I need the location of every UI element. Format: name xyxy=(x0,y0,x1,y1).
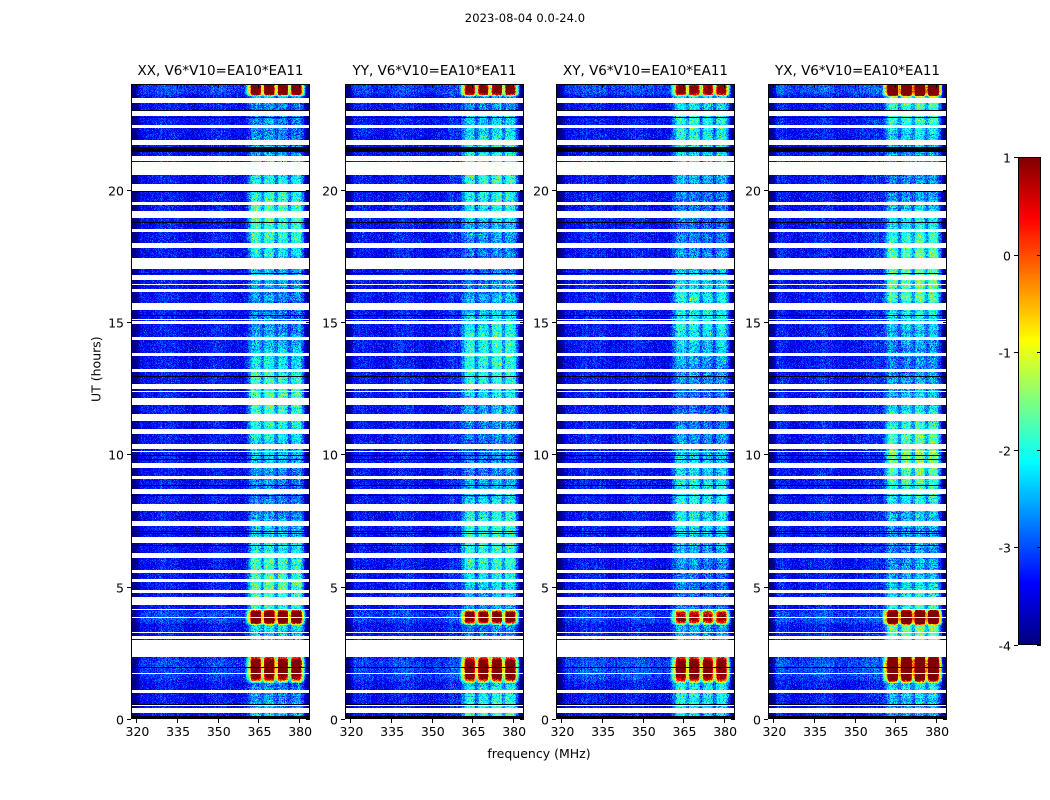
colorbar-tick-right-4 xyxy=(1037,547,1041,548)
y-tick-xy-2: 10 xyxy=(552,454,556,455)
panel-title-yy: YY, V6*V10=EA10*EA11 xyxy=(352,63,516,79)
x-axis-label: frequency (MHz) xyxy=(131,746,947,761)
x-tick-xx-4: 380 xyxy=(299,719,300,723)
y-tick-xy-1: 5 xyxy=(552,587,556,588)
y-tick-yy-0: 0 xyxy=(341,719,345,720)
y-tick-right-xx-2 xyxy=(306,454,310,455)
x-tick-top-xx-2 xyxy=(218,84,219,88)
x-tick-top-xx-0 xyxy=(136,84,137,88)
y-tick-yx-2: 10 xyxy=(764,454,768,455)
colorbar-tick-5: -4 xyxy=(1014,645,1018,646)
colorbar-tick-label-5: -4 xyxy=(999,639,1011,654)
spectrum-panel-xy: XY, V6*V10=EA10*EA1132033535036538005101… xyxy=(556,84,735,719)
spectrum-panel-yy: YY, V6*V10=EA10*EA1132033535036538005101… xyxy=(345,84,524,719)
y-tick-right-xy-2 xyxy=(731,454,735,455)
x-tick-label-xy-2: 350 xyxy=(632,724,656,739)
colorbar-tick-label-1: 0 xyxy=(1003,248,1011,263)
y-tick-right-yy-2 xyxy=(520,454,524,455)
y-tick-right-xy-3 xyxy=(731,322,735,323)
y-tick-right-yy-4 xyxy=(520,190,524,191)
x-tick-top-xx-4 xyxy=(299,84,300,88)
x-tick-label-yy-4: 380 xyxy=(502,724,526,739)
y-tick-label-yy-4: 20 xyxy=(322,183,338,198)
y-tick-yx-0: 0 xyxy=(764,719,768,720)
colorbar-tick-right-1 xyxy=(1037,255,1041,256)
colorbar-gradient xyxy=(1018,157,1041,645)
y-tick-label-xx-3: 15 xyxy=(108,316,124,331)
x-tick-yx-4: 380 xyxy=(936,719,937,723)
x-tick-label-yx-2: 350 xyxy=(844,724,868,739)
x-tick-top-xy-4 xyxy=(724,84,725,88)
y-tick-yx-1: 5 xyxy=(764,587,768,588)
y-tick-xx-3: 15 xyxy=(127,322,131,323)
colorbar-tick-4: -3 xyxy=(1014,547,1018,548)
figure-suptitle: 2023-08-04 0.0-24.0 xyxy=(0,11,1050,25)
y-tick-label-yy-1: 5 xyxy=(330,580,338,595)
y-tick-right-xy-1 xyxy=(731,587,735,588)
x-tick-top-yx-2 xyxy=(855,84,856,88)
colorbar-tick-0: 1 xyxy=(1014,157,1018,158)
y-tick-label-xy-0: 0 xyxy=(541,713,549,728)
dynamic-spectrum-image-yy xyxy=(345,84,524,719)
y-tick-label-xy-1: 5 xyxy=(541,580,549,595)
y-tick-label-xy-2: 10 xyxy=(533,448,549,463)
x-tick-xy-2: 350 xyxy=(643,719,644,723)
x-tick-label-xx-4: 380 xyxy=(288,724,312,739)
figure-canvas: 2023-08-04 0.0-24.0 frequency (MHz) UT (… xyxy=(0,0,1050,800)
y-tick-right-yx-3 xyxy=(943,322,947,323)
x-tick-top-yy-0 xyxy=(350,84,351,88)
y-tick-xx-0: 0 xyxy=(127,719,131,720)
y-tick-right-yx-4 xyxy=(943,190,947,191)
y-tick-yy-3: 15 xyxy=(341,322,345,323)
y-tick-right-xx-3 xyxy=(306,322,310,323)
dynamic-spectrum-image-yx xyxy=(768,84,947,719)
y-tick-yy-1: 5 xyxy=(341,587,345,588)
x-tick-top-yy-2 xyxy=(432,84,433,88)
y-tick-xx-1: 5 xyxy=(127,587,131,588)
y-tick-yy-4: 20 xyxy=(341,190,345,191)
y-tick-right-yx-1 xyxy=(943,587,947,588)
y-tick-right-yx-2 xyxy=(943,454,947,455)
x-tick-top-yy-4 xyxy=(513,84,514,88)
dynamic-spectrum-image-xx xyxy=(131,84,310,719)
y-tick-xy-4: 20 xyxy=(552,190,556,191)
colorbar-tick-right-5 xyxy=(1037,645,1041,646)
x-tick-xy-4: 380 xyxy=(724,719,725,723)
y-tick-right-xy-4 xyxy=(731,190,735,191)
y-tick-xy-0: 0 xyxy=(552,719,556,720)
x-tick-top-xy-0 xyxy=(561,84,562,88)
y-tick-label-xx-0: 0 xyxy=(116,713,124,728)
x-tick-yx-1: 335 xyxy=(814,719,815,723)
y-tick-right-yy-3 xyxy=(520,322,524,323)
y-tick-label-xx-1: 5 xyxy=(116,580,124,595)
x-tick-xx-0: 320 xyxy=(136,719,137,723)
x-tick-label-yy-1: 335 xyxy=(380,724,404,739)
x-tick-yy-0: 320 xyxy=(350,719,351,723)
y-tick-xx-4: 20 xyxy=(127,190,131,191)
x-tick-top-xy-3 xyxy=(683,84,684,88)
y-tick-yx-3: 15 xyxy=(764,322,768,323)
spectrum-panel-xx: XX, V6*V10=EA10*EA1132033535036538005101… xyxy=(131,84,310,719)
spectrum-panel-yx: YX, V6*V10=EA10*EA1132033535036538005101… xyxy=(768,84,947,719)
colorbar-tick-1: 0 xyxy=(1014,255,1018,256)
colorbar-tick-label-2: -1 xyxy=(999,346,1011,361)
x-tick-yy-1: 335 xyxy=(391,719,392,723)
x-tick-top-yx-1 xyxy=(814,84,815,88)
colorbar-tick-2: -1 xyxy=(1014,352,1018,353)
y-tick-right-xx-4 xyxy=(306,190,310,191)
colorbar: 10-1-2-3-4 xyxy=(1018,157,1041,645)
colorbar-tick-label-3: -2 xyxy=(999,443,1011,458)
x-tick-top-yy-3 xyxy=(472,84,473,88)
y-tick-label-yx-2: 10 xyxy=(745,448,761,463)
x-tick-top-xy-1 xyxy=(602,84,603,88)
x-tick-label-xx-0: 320 xyxy=(125,724,149,739)
x-tick-yy-4: 380 xyxy=(513,719,514,723)
x-tick-label-xy-0: 320 xyxy=(550,724,574,739)
x-tick-label-xy-3: 365 xyxy=(673,724,697,739)
x-tick-yx-3: 365 xyxy=(895,719,896,723)
x-tick-label-xx-2: 350 xyxy=(207,724,231,739)
x-tick-yx-2: 350 xyxy=(855,719,856,723)
y-tick-xy-3: 15 xyxy=(552,322,556,323)
x-tick-xx-1: 335 xyxy=(177,719,178,723)
y-tick-xx-2: 10 xyxy=(127,454,131,455)
colorbar-tick-label-4: -3 xyxy=(999,541,1011,556)
x-tick-label-xy-4: 380 xyxy=(713,724,737,739)
colorbar-tick-3: -2 xyxy=(1014,450,1018,451)
x-tick-top-yx-0 xyxy=(773,84,774,88)
y-tick-right-yx-0 xyxy=(943,719,947,720)
x-tick-label-yy-0: 320 xyxy=(339,724,363,739)
y-tick-label-xx-2: 10 xyxy=(108,448,124,463)
x-tick-label-xy-1: 335 xyxy=(591,724,615,739)
x-tick-label-yx-3: 365 xyxy=(885,724,909,739)
x-tick-top-xx-3 xyxy=(258,84,259,88)
x-tick-label-yy-3: 365 xyxy=(462,724,486,739)
x-tick-xy-1: 335 xyxy=(602,719,603,723)
y-tick-label-yy-0: 0 xyxy=(330,713,338,728)
x-tick-yy-2: 350 xyxy=(432,719,433,723)
x-tick-xx-3: 365 xyxy=(258,719,259,723)
x-tick-label-xx-1: 335 xyxy=(166,724,190,739)
y-tick-label-yy-3: 15 xyxy=(322,316,338,331)
y-tick-label-yx-1: 5 xyxy=(753,580,761,595)
y-tick-label-xy-4: 20 xyxy=(533,183,549,198)
y-tick-right-yy-1 xyxy=(520,587,524,588)
x-tick-label-yx-4: 380 xyxy=(925,724,949,739)
y-tick-label-yx-4: 20 xyxy=(745,183,761,198)
y-tick-right-xy-0 xyxy=(731,719,735,720)
x-tick-top-yx-4 xyxy=(936,84,937,88)
panel-title-xx: XX, V6*V10=EA10*EA11 xyxy=(137,63,303,79)
x-tick-label-yy-2: 350 xyxy=(421,724,445,739)
panel-title-yx: YX, V6*V10=EA10*EA11 xyxy=(775,63,940,79)
y-tick-yy-2: 10 xyxy=(341,454,345,455)
x-tick-yy-3: 365 xyxy=(472,719,473,723)
x-tick-xx-2: 350 xyxy=(218,719,219,723)
y-tick-label-yy-2: 10 xyxy=(322,448,338,463)
x-tick-xy-0: 320 xyxy=(561,719,562,723)
y-tick-right-xx-1 xyxy=(306,587,310,588)
y-tick-right-yy-0 xyxy=(520,719,524,720)
x-tick-yx-0: 320 xyxy=(773,719,774,723)
x-tick-top-yy-1 xyxy=(391,84,392,88)
y-tick-label-yx-0: 0 xyxy=(753,713,761,728)
x-tick-top-yx-3 xyxy=(895,84,896,88)
y-tick-label-xx-4: 20 xyxy=(108,183,124,198)
panel-title-xy: XY, V6*V10=EA10*EA11 xyxy=(563,63,728,79)
x-tick-top-xx-1 xyxy=(177,84,178,88)
x-tick-label-yx-0: 320 xyxy=(762,724,786,739)
x-tick-xy-3: 365 xyxy=(683,719,684,723)
colorbar-tick-right-3 xyxy=(1037,450,1041,451)
colorbar-tick-right-2 xyxy=(1037,352,1041,353)
y-tick-yx-4: 20 xyxy=(764,190,768,191)
x-tick-label-xx-3: 365 xyxy=(248,724,272,739)
colorbar-tick-right-0 xyxy=(1037,157,1041,158)
colorbar-tick-label-0: 1 xyxy=(1003,151,1011,166)
dynamic-spectrum-image-xy xyxy=(556,84,735,719)
x-tick-top-xy-2 xyxy=(643,84,644,88)
y-tick-label-yx-3: 15 xyxy=(745,316,761,331)
x-tick-label-yx-1: 335 xyxy=(803,724,827,739)
y-tick-label-xy-3: 15 xyxy=(533,316,549,331)
y-tick-right-xx-0 xyxy=(306,719,310,720)
